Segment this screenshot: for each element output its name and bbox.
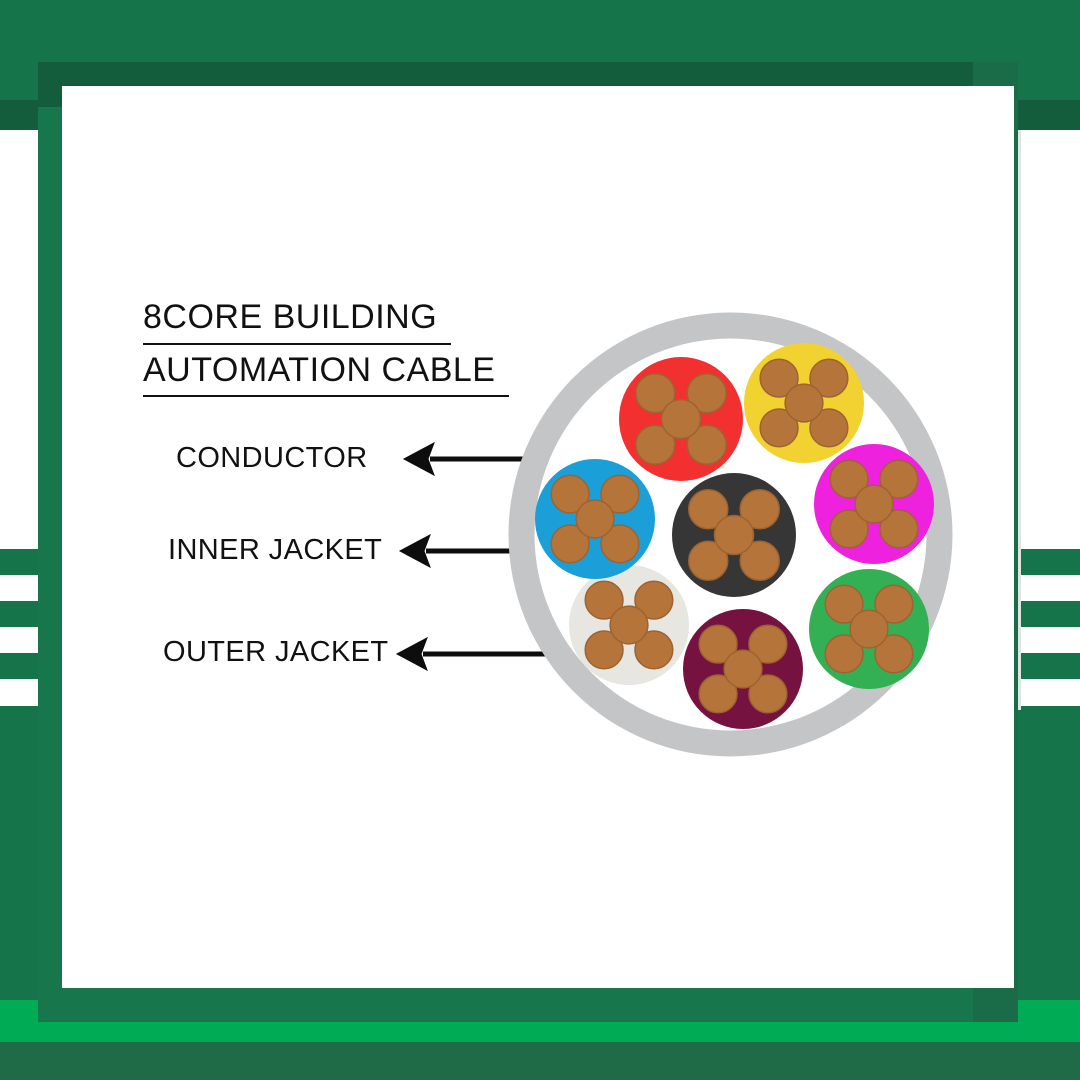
green-core-conductor-5	[850, 610, 888, 648]
yellow-core-conductor-5	[785, 384, 823, 422]
poster-canvas: 8CORE BUILDING AUTOMATION CABLE CONDUCTO…	[0, 0, 1080, 1080]
cable-cross-section-diagram	[503, 307, 958, 762]
callout-label-inner-jacket: INNER JACKET	[168, 534, 382, 567]
callout-inner-jacket: INNER JACKET	[168, 532, 382, 568]
cream-core-conductor-5	[610, 606, 648, 644]
magenta-core	[814, 444, 934, 564]
callout-label-conductor: CONDUCTOR	[176, 442, 368, 475]
background-bottom-shadow-band	[0, 1042, 1080, 1080]
blue-core-conductor-5	[576, 500, 614, 538]
red-core	[619, 357, 743, 481]
cream-core	[569, 565, 689, 685]
yellow-core	[744, 343, 864, 463]
cable-svg	[503, 307, 958, 762]
black-core-conductor-5	[714, 515, 753, 554]
page-title-line-2: AUTOMATION CABLE	[143, 349, 509, 398]
black-core	[672, 473, 796, 597]
callout-conductor: CONDUCTOR	[176, 440, 368, 476]
maroon-core	[683, 609, 803, 729]
page-title-line-1: 8CORE BUILDING	[143, 296, 451, 345]
green-core	[809, 569, 929, 689]
page-title: 8CORE BUILDING AUTOMATION CABLE	[143, 296, 563, 401]
blue-core	[535, 459, 655, 579]
magenta-core-conductor-5	[855, 485, 893, 523]
maroon-core-conductor-5	[724, 650, 762, 688]
callout-label-outer-jacket: OUTER JACKET	[163, 636, 389, 669]
callout-outer-jacket: OUTER JACKET	[163, 634, 389, 670]
red-core-conductor-5	[661, 399, 700, 438]
